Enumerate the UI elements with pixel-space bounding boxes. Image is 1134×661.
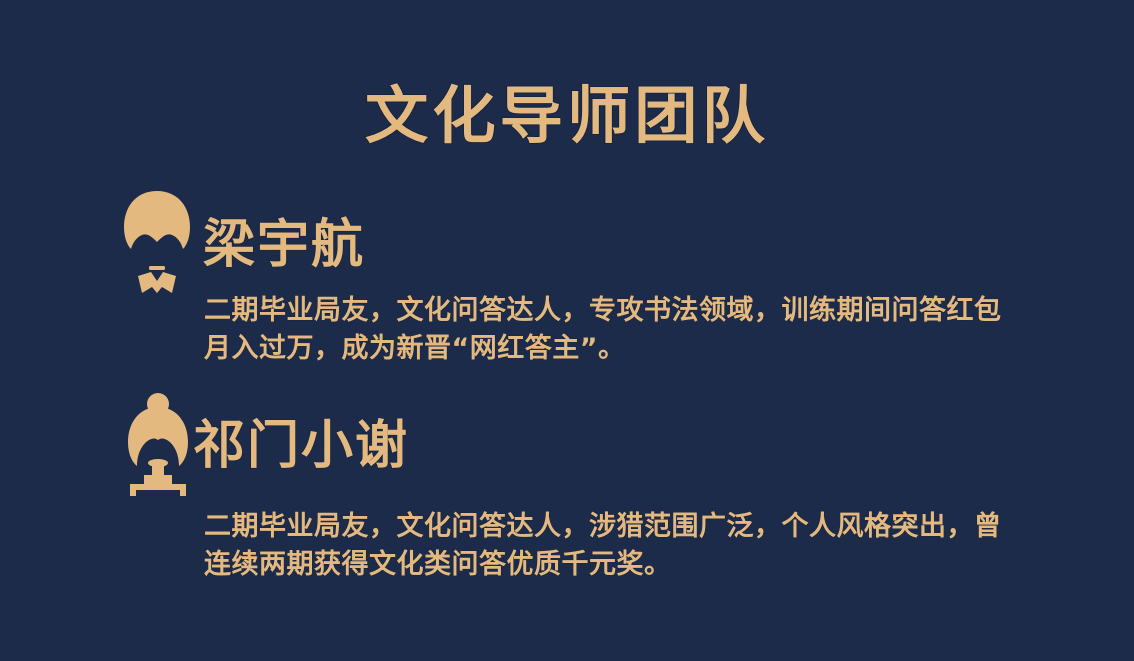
member-description: 二期毕业局友，文化问答达人，专攻书法领域，训练期间问答红包 月入过万，成为新晋“… [204,292,1044,368]
member-description-line: 二期毕业局友，文化问答达人，涉猎范围广泛，个人风格突出，曾 [204,508,1044,546]
member-card: 祁门小谢 二期毕业局友，文化问答达人，涉猎范围广泛，个人风格突出，曾 连续两期获… [0,388,1134,573]
member-card: 梁宇航 二期毕业局友，文化问答达人，专攻书法领域，训练期间问答红包 月入过万，成… [0,185,1134,370]
person-bowl-cut-avatar-icon [118,189,196,294]
member-name: 祁门小谢 [193,416,409,476]
member-description-line: 月入过万，成为新晋“网红答主”。 [204,330,1044,368]
member-description: 二期毕业局友，文化问答达人，涉猎范围广泛，个人风格突出，曾 连续两期获得文化类问… [204,508,1044,584]
slide-canvas: 文化导师团队 梁宇航 二期毕业局友，文化问答达人，专攻书法领域，训练期间问答红包… [0,0,1134,661]
person-top-knot-avatar-icon [118,392,196,497]
member-description-line: 连续两期获得文化类问答优质千元奖。 [204,546,1044,584]
page-title: 文化导师团队 [0,78,1134,154]
member-name: 梁宇航 [203,215,365,275]
member-description-line: 二期毕业局友，文化问答达人，专攻书法领域，训练期间问答红包 [204,292,1044,330]
